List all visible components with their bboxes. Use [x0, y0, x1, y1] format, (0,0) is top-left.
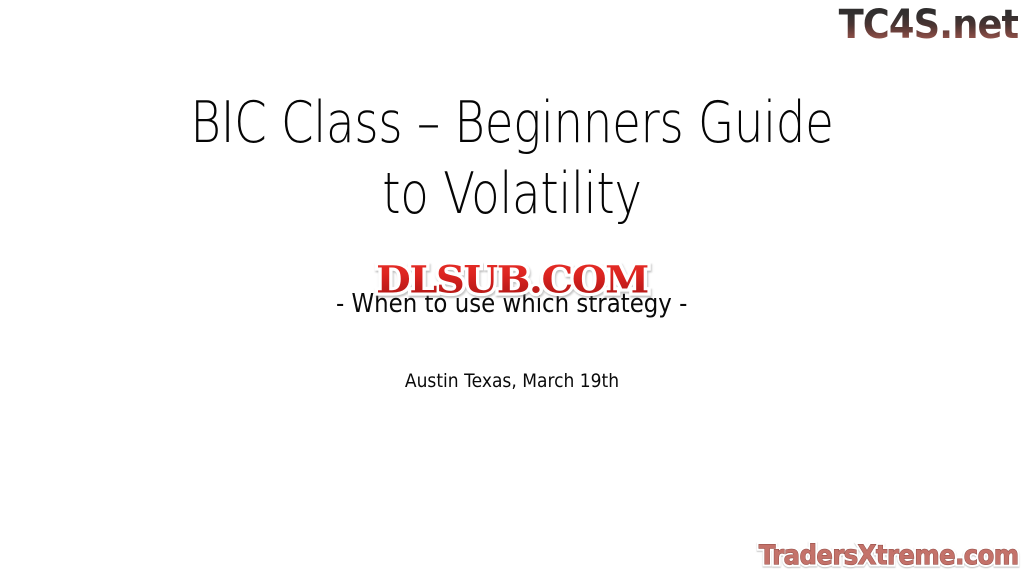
page-subtitle: - When to use which strategy -	[0, 288, 1024, 320]
event-location-date: Austin Texas, March 19th	[0, 369, 1024, 394]
page-title-line-1: BIC Class – Beginners Guide	[92, 88, 932, 159]
slide-canvas: TC4S.net BIC Class – Beginners Guide to …	[0, 0, 1024, 576]
page-subtitle-text: - When to use which strategy -	[336, 288, 687, 320]
watermark-tradersxtreme-inner: TradersXtreme.com TradersXtreme.com	[759, 540, 1019, 572]
watermark-tradersxtreme-com: TradersXtreme.com TradersXtreme.com	[730, 540, 1019, 572]
page-title: BIC Class – Beginners Guide to Volatilit…	[0, 88, 1024, 230]
watermark-tc4s-net: TC4S.net	[838, 2, 1018, 48]
page-title-line-2: to Volatility	[92, 159, 932, 230]
event-location-date-text: Austin Texas, March 19th	[405, 369, 619, 394]
watermark-tradersxtreme-fill: TradersXtreme.com	[759, 540, 1019, 571]
